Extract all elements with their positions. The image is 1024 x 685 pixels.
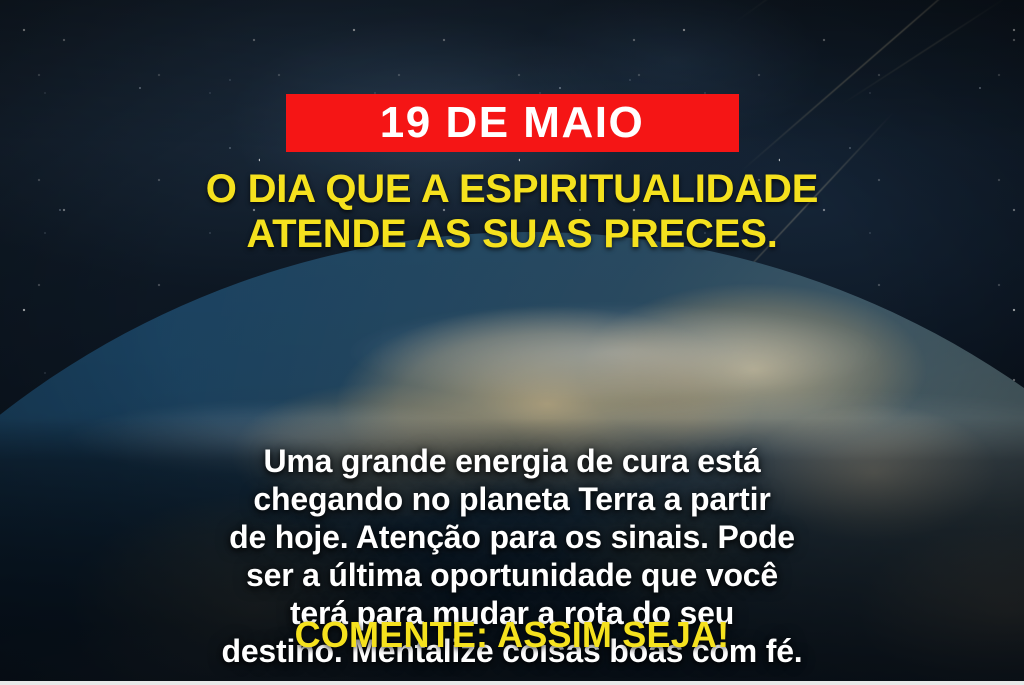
body-line: de hoje. Atenção para os sinais. Pode [58,518,966,556]
bottom-edge-strip [0,681,1024,685]
call-to-action-text: COMENTE: ASSIM SEJA! [0,614,1024,656]
headline-line-1: O DIA QUE A ESPIRITUALIDADE [40,167,984,212]
headline: O DIA QUE A ESPIRITUALIDADE ATENDE AS SU… [0,167,1024,257]
date-badge-label: 19 DE MAIO [380,101,644,145]
poster-canvas: 19 DE MAIO O DIA QUE A ESPIRITUALIDADE A… [0,0,1024,685]
headline-line-2: ATENDE AS SUAS PRECES. [40,212,984,257]
body-line: chegando no planeta Terra a partir [58,480,966,518]
body-line: ser a última oportunidade que você [58,556,966,594]
poster-content: 19 DE MAIO O DIA QUE A ESPIRITUALIDADE A… [0,0,1024,685]
date-badge: 19 DE MAIO [286,94,739,152]
body-line: Uma grande energia de cura está [58,442,966,480]
